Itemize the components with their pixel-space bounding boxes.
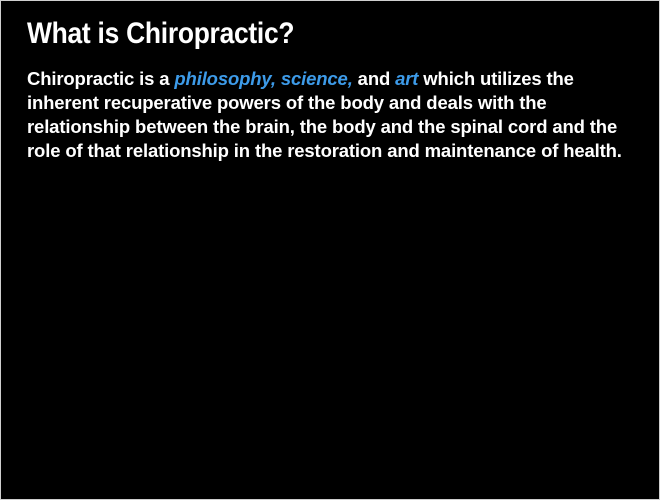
body-segment-intro: Chiropractic is a	[27, 68, 174, 89]
body-segment-philosophy-science: philosophy, science,	[174, 68, 352, 89]
body-segment-art: art	[395, 68, 418, 89]
body-paragraph: Chiropractic is a philosophy, science, a…	[27, 67, 635, 163]
slide-content: What is Chiropractic? Chiropractic is a …	[27, 17, 635, 163]
page-title: What is Chiropractic?	[27, 17, 562, 51]
slide-canvas: What is Chiropractic? Chiropractic is a …	[0, 0, 660, 500]
body-segment-conjunction: and	[353, 68, 395, 89]
